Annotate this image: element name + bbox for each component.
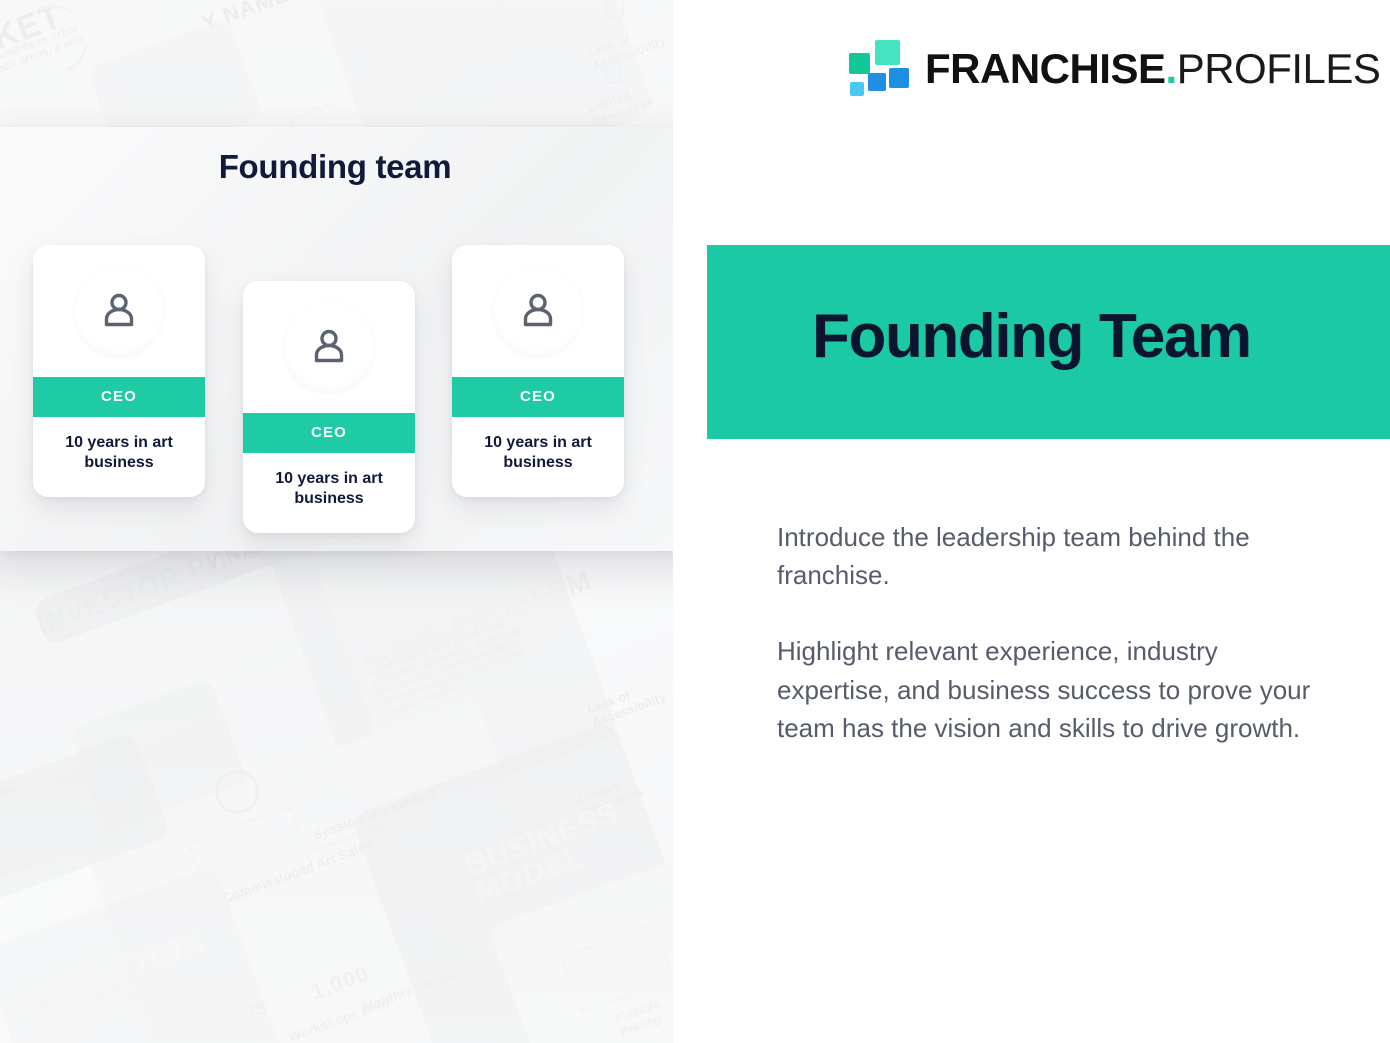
avatar-circle: [492, 265, 584, 357]
team-member-card[interactable]: CEO 10 years in art business: [243, 281, 415, 533]
logo-wordmark: FRANCHISE . PROFILES: [925, 48, 1380, 90]
avatar: [452, 245, 624, 377]
avatar-circle: [283, 301, 375, 393]
preview-panel-title: Founding team: [0, 148, 673, 186]
team-member-card[interactable]: CEO 10 years in art business: [33, 245, 205, 497]
member-role-badge: CEO: [243, 413, 415, 453]
avatar: [33, 245, 205, 377]
brand-logo: FRANCHISE . PROFILES: [849, 40, 1380, 98]
founding-team-preview-panel: Founding team CEO 10 years in art busine…: [0, 127, 673, 551]
member-role-badge: CEO: [452, 377, 624, 417]
logo-word-profiles: PROFILES: [1177, 48, 1381, 90]
team-member-card[interactable]: CEO 10 years in art business: [452, 245, 624, 497]
member-description: 10 years in art business: [33, 417, 205, 493]
logo-square-blue-small: [868, 73, 886, 91]
member-role-badge: CEO: [33, 377, 205, 417]
avatar: [243, 281, 415, 413]
person-icon: [308, 326, 350, 368]
body-paragraph-1: Introduce the leadership team behind the…: [777, 518, 1337, 594]
logo-square-cyan-small: [850, 82, 864, 96]
section-banner: Founding Team: [707, 245, 1390, 439]
person-icon: [98, 290, 140, 332]
person-icon: [517, 290, 559, 332]
logo-dot: .: [1166, 48, 1177, 90]
member-description: 10 years in art business: [243, 453, 415, 529]
body-copy: Introduce the leadership team behind the…: [777, 518, 1337, 747]
deck-dollar-icon: [215, 770, 259, 814]
member-description: 10 years in art business: [452, 417, 624, 493]
right-content-column: FRANCHISE . PROFILES Founding Team Intro…: [673, 0, 1390, 1043]
slide-page: KET Opportunities in urban and suburban …: [0, 0, 1390, 1043]
logo-word-franchise: FRANCHISE: [925, 48, 1166, 90]
logo-square-green-mid: [849, 53, 870, 74]
left-visual-column: KET Opportunities in urban and suburban …: [0, 0, 673, 1043]
avatar-circle: [73, 265, 165, 357]
body-paragraph-2: Highlight relevant experience, industry …: [777, 632, 1337, 747]
logo-square-teal-large: [875, 40, 900, 65]
logo-mark-icon: [849, 40, 911, 98]
page-title: Founding Team: [812, 301, 1251, 372]
logo-square-blue-mid: [889, 68, 909, 88]
